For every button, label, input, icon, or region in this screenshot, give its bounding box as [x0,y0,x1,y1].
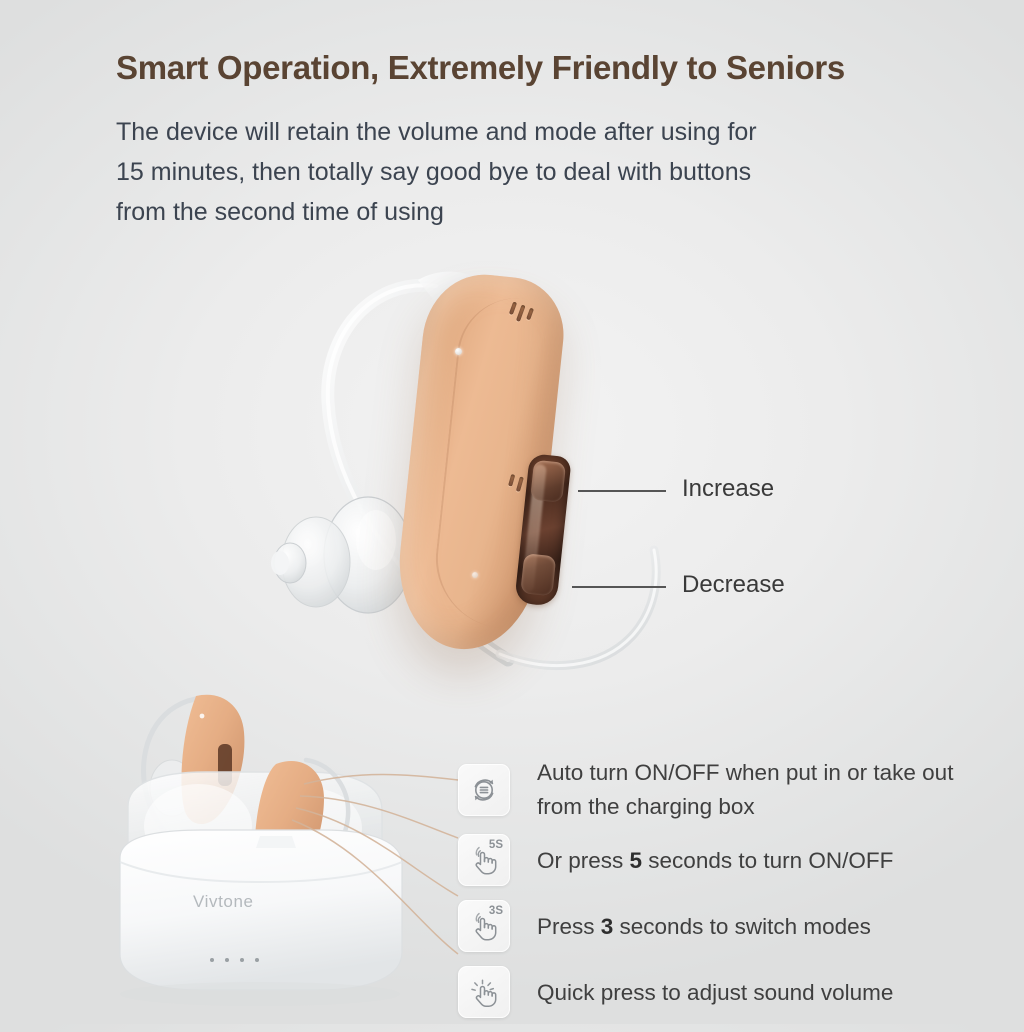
subtitle-line-3: from the second time of using [116,192,916,232]
press-duration-badge: 5S [489,839,503,851]
led-dot [210,958,214,962]
feature-row[interactable]: Auto turn ON/OFF when put in or take out… [458,756,978,824]
hand-press-icon: 5S [458,834,510,886]
subtitle-line-1: The device will retain the volume and mo… [116,112,916,152]
callout-increase: Increase [682,475,774,503]
feature-row[interactable]: Quick press to adjust sound volume [458,966,978,1018]
status-led-icon [455,348,462,355]
feature-text-span: seconds to turn ON/OFF [642,848,893,873]
callout-decrease: Decrease [682,571,785,599]
led-dot [225,958,229,962]
feature-text-span: Press [537,914,601,939]
feature-text-span: Auto turn ON/OFF when put in or take out… [537,760,953,819]
feature-text: Or press 5 seconds to turn ON/OFF [537,844,893,877]
page-title: Smart Operation, Extremely Friendly to S… [116,48,946,88]
feature-text-span: Or press [537,848,630,873]
subtitle-line-2: 15 minutes, then totally say good bye to… [116,152,916,192]
feature-list: Auto turn ON/OFF when put in or take out… [458,756,978,1032]
case-brand-logo: Vivtone [193,892,254,912]
increase-button[interactable] [530,460,566,503]
feature-text: Auto turn ON/OFF when put in or take out… [537,756,978,824]
auto-sync-icon [458,764,510,816]
feature-text-bold: 3 [601,914,614,939]
decrease-button[interactable] [520,553,556,596]
page-subtitle: The device will retain the volume and mo… [116,112,916,232]
feature-row[interactable]: 3S Press 3 seconds to switch modes [458,900,978,952]
feature-text-bold: 5 [630,848,643,873]
feature-text-span: Quick press to adjust sound volume [537,980,893,1005]
hearing-aid-illustration [250,250,710,690]
feature-text: Quick press to adjust sound volume [537,976,893,1009]
decrease-leader-line [572,586,666,588]
product-infographic: Smart Operation, Extremely Friendly to S… [0,0,1024,1024]
case-led-indicators [210,958,259,962]
feature-row[interactable]: 5S Or press 5 seconds to turn ON/OFF [458,834,978,886]
increase-leader-line [578,490,666,492]
feature-text: Press 3 seconds to switch modes [537,910,871,943]
hand-press-icon: 3S [458,900,510,952]
feature-text-span: seconds to switch modes [613,914,871,939]
status-led-secondary-icon [472,572,478,578]
led-dot [255,958,259,962]
led-dot [240,958,244,962]
hand-tap-icon [458,966,510,1018]
press-duration-badge: 3S [489,905,503,917]
